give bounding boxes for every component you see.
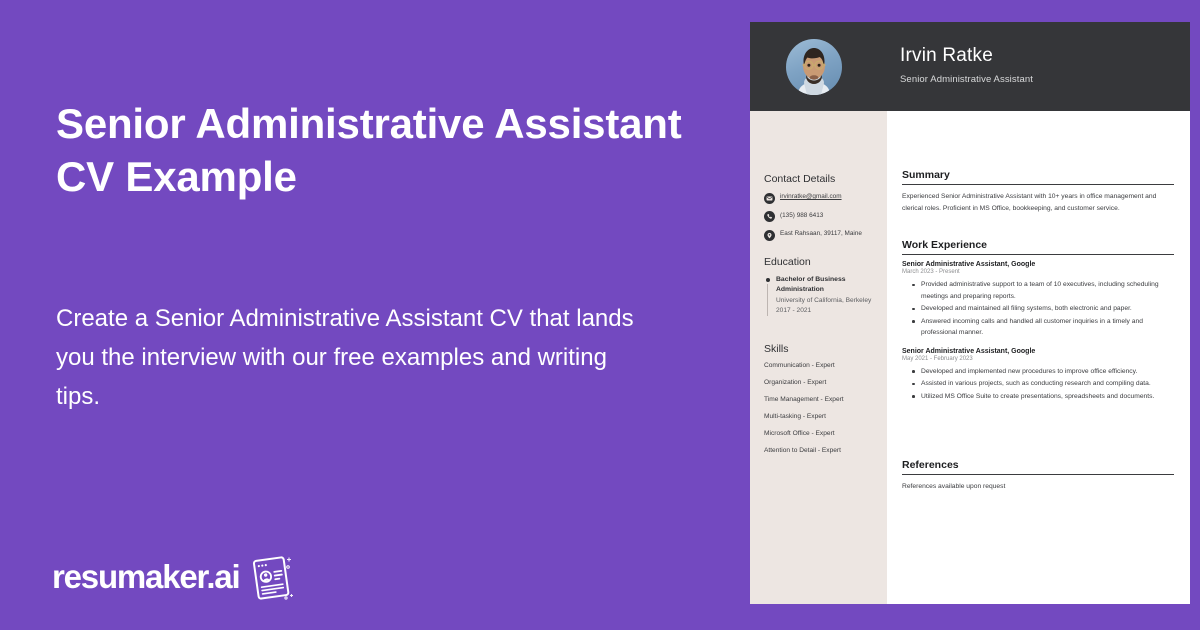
contact-location-value: East Rahsaan, 39117, Maine [780, 229, 862, 239]
skills-heading: Skills [764, 343, 876, 355]
contact-heading: Contact Details [764, 173, 876, 185]
avatar [786, 39, 842, 95]
work-experience-heading: Work Experience [902, 239, 1174, 255]
education-school: University of California, Berkeley [776, 296, 876, 306]
education-section: Education Bachelor of Business Administr… [764, 256, 876, 316]
contact-item-phone[interactable]: (135) 988 6413 [764, 211, 876, 223]
resume-sidebar: Contact Details irvinratke@gmail.com (13… [750, 111, 887, 604]
resume-role: Senior Administrative Assistant [900, 74, 1033, 85]
job-bullet: Utilized MS Office Suite to create prese… [902, 391, 1174, 403]
resume-document-icon [245, 551, 297, 603]
summary-heading: Summary [902, 169, 1174, 185]
job-dates: March 2023 - Present [902, 269, 1174, 275]
contact-item-email[interactable]: irvinratke@gmail.com [764, 192, 876, 204]
skill-item: Organization - Expert [764, 379, 876, 386]
resumaker-logo[interactable]: resumaker.ai [52, 551, 297, 603]
skill-item: Time Management - Expert [764, 396, 876, 403]
references-text: References available upon request [902, 481, 1174, 493]
job-bullet: Provided administrative support to a tea… [902, 279, 1174, 302]
skill-item: Attention to Detail - Expert [764, 447, 876, 454]
job-bullet: Developed and maintained all filing syst… [902, 303, 1174, 315]
summary-text: Experienced Senior Administrative Assist… [902, 191, 1174, 214]
logo-wordmark: resumaker.ai [52, 558, 239, 596]
resume-main-column: Summary Experienced Senior Administrativ… [887, 111, 1190, 604]
job-bullet-list: Provided administrative support to a tea… [902, 279, 1174, 339]
promo-panel: Senior Administrative Assistant CV Examp… [0, 0, 750, 630]
job-entry: Senior Administrative Assistant, Google … [902, 348, 1174, 403]
job-bullet: Answered incoming calls and handled all … [902, 316, 1174, 339]
phone-icon [764, 211, 775, 222]
job-bullet: Assisted in various projects, such as co… [902, 378, 1174, 390]
references-section: References References available upon req… [902, 459, 1174, 493]
contact-details-section: Contact Details irvinratke@gmail.com (13… [764, 173, 876, 248]
job-bullet-list: Developed and implemented new procedures… [902, 366, 1174, 403]
job-dates: May 2021 - February 2023 [902, 356, 1174, 362]
contact-email-value[interactable]: irvinratke@gmail.com [780, 192, 842, 202]
education-timeline-marker [764, 275, 771, 316]
work-experience-section: Work Experience Senior Administrative As… [902, 239, 1174, 411]
references-heading: References [902, 459, 1174, 475]
resume-name: Irvin Ratke [900, 45, 993, 67]
education-dates: 2017 - 2021 [776, 306, 876, 316]
skill-item: Microsoft Office - Expert [764, 430, 876, 437]
summary-section: Summary Experienced Senior Administrativ… [902, 169, 1174, 214]
skill-item: Communication - Expert [764, 362, 876, 369]
page-title: Senior Administrative Assistant CV Examp… [56, 97, 696, 204]
contact-item-location: East Rahsaan, 39117, Maine [764, 229, 876, 241]
job-bullet: Developed and implemented new procedures… [902, 366, 1174, 378]
contact-phone-value: (135) 988 6413 [780, 211, 823, 221]
education-item: Bachelor of Business Administration Univ… [764, 275, 876, 316]
skill-item: Multi-tasking - Expert [764, 413, 876, 420]
education-heading: Education [764, 256, 876, 268]
job-title: Senior Administrative Assistant, Google [902, 348, 1174, 355]
envelope-icon [764, 193, 775, 204]
job-entry: Senior Administrative Assistant, Google … [902, 261, 1174, 339]
resume-preview-card[interactable]: Irvin Ratke Senior Administrative Assist… [750, 22, 1190, 604]
location-pin-icon [764, 230, 775, 241]
skills-section: Skills Communication - Expert Organizati… [764, 343, 876, 464]
job-title: Senior Administrative Assistant, Google [902, 261, 1174, 268]
promo-subtitle: Create a Senior Administrative Assistant… [56, 300, 636, 417]
education-degree: Bachelor of Business Administration [776, 275, 876, 295]
